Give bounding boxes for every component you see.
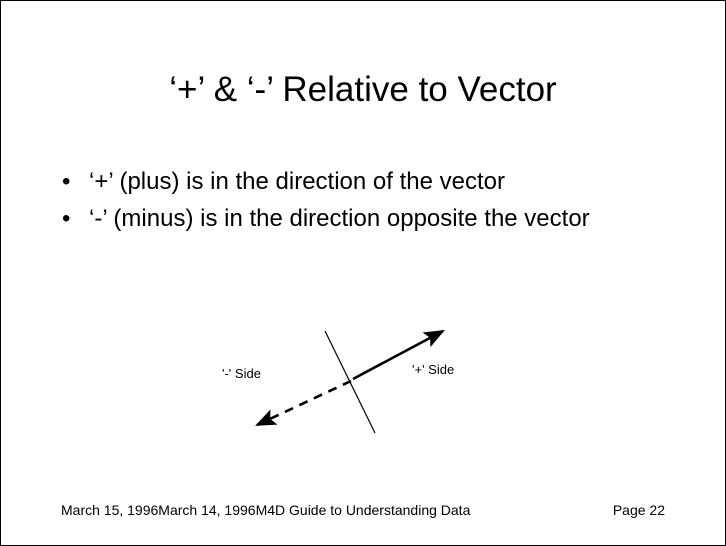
- minus-side-label: '-' Side: [222, 366, 261, 381]
- bullet-list: • ‘+’ (plus) is in the direction of the …: [57, 163, 657, 237]
- footer-date-source: March 15, 1996March 14, 1996M4D Guide to…: [61, 501, 470, 519]
- list-item: • ‘+’ (plus) is in the direction of the …: [57, 163, 657, 200]
- negative-direction-arrow: [257, 381, 351, 425]
- vector-diagram: '-' Side '+' Side: [201, 306, 511, 451]
- footer-page-number: Page 22: [613, 501, 665, 519]
- list-item-text: ‘+’ (plus) is in the direction of the ve…: [89, 168, 505, 195]
- bullet-dot-icon: •: [62, 200, 70, 237]
- plus-side-label: '+' Side: [412, 362, 454, 377]
- list-item-text: ‘-’ (minus) is in the direction opposite…: [89, 205, 590, 232]
- page-title: ‘+’ & ‘-’ Relative to Vector: [1, 69, 725, 111]
- slide-footer: March 15, 1996March 14, 1996M4D Guide to…: [1, 501, 725, 523]
- bullet-dot-icon: •: [62, 163, 70, 200]
- slide-canvas: ‘+’ & ‘-’ Relative to Vector • ‘+’ (plus…: [0, 0, 726, 546]
- list-item: • ‘-’ (minus) is in the direction opposi…: [57, 200, 657, 237]
